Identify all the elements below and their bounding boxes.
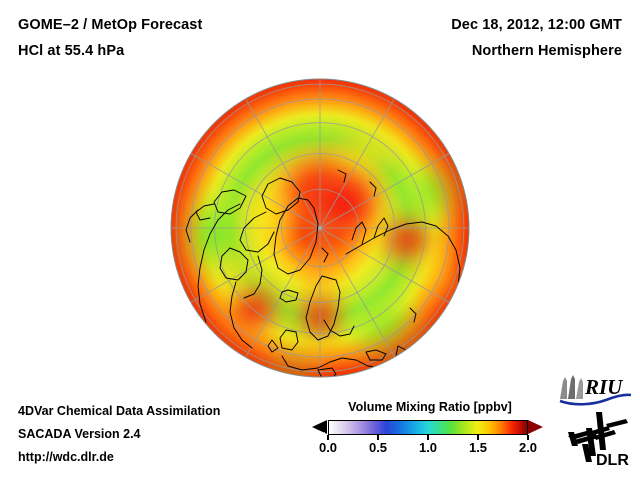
riu-logo-bars — [560, 375, 583, 399]
colorbar-under-cap-icon — [312, 420, 327, 434]
polar-projection-map — [170, 78, 470, 378]
page-subtitle: HCl at 55.4 hPa — [18, 43, 124, 59]
dlr-logo-text: DLR — [596, 452, 629, 468]
page-title: GOME–2 / MetOp Forecast — [18, 17, 202, 33]
colorbar-tick-label: 1.5 — [469, 440, 487, 455]
dlr-logo-svg: DLR — [566, 410, 634, 468]
colorbar-gradient — [328, 420, 528, 435]
colorbar-tick-labels: 0.00.51.01.52.0 — [328, 440, 528, 458]
colorbar-row: 0.00.51.01.52.0 — [312, 418, 548, 438]
north-pole-marker — [318, 226, 321, 229]
colorbar-tick-label: 2.0 — [519, 440, 537, 455]
colorbar-tick-label: 0.0 — [319, 440, 337, 455]
dlr-logo[interactable]: DLR — [566, 410, 634, 468]
colorbar-over-cap-icon — [528, 420, 543, 434]
hemisphere-label: Northern Hemisphere — [472, 43, 622, 59]
credit-assimilation: 4DVar Chemical Data Assimilation — [18, 404, 220, 418]
riu-logo-svg: RIU — [556, 372, 634, 406]
credit-url[interactable]: http://wdc.dlr.de — [18, 450, 114, 464]
colorbar-tick-label: 1.0 — [419, 440, 437, 455]
colorbar: Volume Mixing Ratio [ppbv] 0.00.51.01.52… — [312, 400, 548, 438]
colorbar-tick-label: 0.5 — [369, 440, 387, 455]
riu-logo[interactable]: RIU — [556, 372, 634, 406]
forecast-datetime: Dec 18, 2012, 12:00 GMT — [451, 17, 622, 33]
credit-version: SACADA Version 2.4 — [18, 427, 141, 441]
globe-svg — [170, 78, 470, 378]
coastline-arabia — [386, 362, 418, 378]
field-mid-north-limb — [324, 126, 408, 178]
colorbar-title: Volume Mixing Ratio [ppbv] — [312, 400, 548, 414]
